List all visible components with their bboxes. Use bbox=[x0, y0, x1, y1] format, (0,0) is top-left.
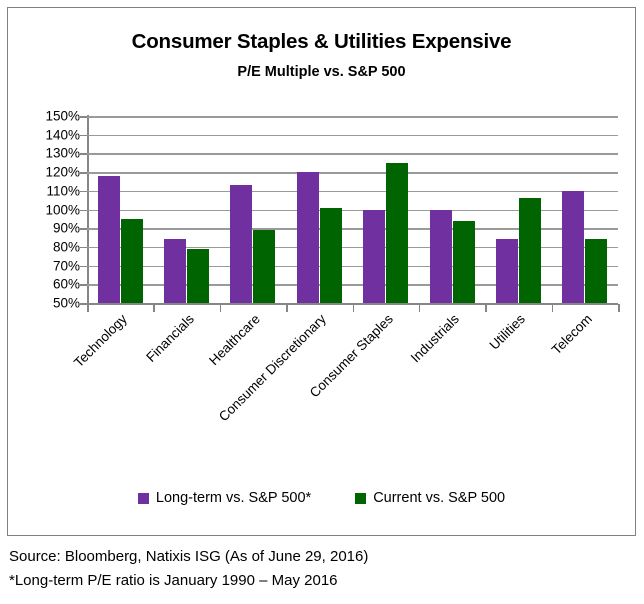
y-axis-tick-label: 70% bbox=[53, 259, 80, 273]
x-axis-tick bbox=[286, 304, 288, 312]
bar[interactable] bbox=[430, 210, 452, 304]
y-axis-tick-label: 90% bbox=[53, 221, 80, 235]
bar-group bbox=[485, 116, 551, 303]
bar-group bbox=[87, 116, 153, 303]
legend-label: Current vs. S&P 500 bbox=[373, 490, 505, 506]
chart-frame: Consumer Staples & Utilities Expensive P… bbox=[7, 7, 636, 536]
y-axis-tick bbox=[80, 266, 87, 268]
bar[interactable] bbox=[496, 239, 518, 303]
bar[interactable] bbox=[585, 239, 607, 303]
bar[interactable] bbox=[519, 198, 541, 303]
bar[interactable] bbox=[386, 163, 408, 303]
bar[interactable] bbox=[98, 176, 120, 303]
bar-group bbox=[153, 116, 219, 303]
bar[interactable] bbox=[253, 230, 275, 303]
bar[interactable] bbox=[453, 221, 475, 303]
footer-notes: Source: Bloomberg, Natixis ISG (As of Ju… bbox=[9, 545, 629, 594]
y-axis-tick bbox=[80, 247, 87, 249]
footer-note-line: *Long-term P/E ratio is January 1990 – M… bbox=[9, 569, 629, 593]
plot-area bbox=[87, 116, 618, 303]
y-axis-tick-label: 50% bbox=[53, 296, 80, 310]
bar-group bbox=[419, 116, 485, 303]
y-axis-tick bbox=[80, 303, 87, 305]
y-axis-tick-label: 130% bbox=[45, 147, 80, 161]
bar[interactable] bbox=[121, 219, 143, 303]
y-axis-tick bbox=[80, 153, 87, 155]
bar[interactable] bbox=[363, 210, 385, 304]
bar-group bbox=[286, 116, 352, 303]
x-axis-tick bbox=[618, 304, 620, 312]
bar[interactable] bbox=[297, 172, 319, 303]
bar[interactable] bbox=[187, 249, 209, 303]
plot-wrapper: 150%140%130%120%110%100%90%80%70%60%50% … bbox=[8, 8, 635, 535]
legend-label: Long-term vs. S&P 500* bbox=[156, 490, 311, 506]
bar-group bbox=[220, 116, 286, 303]
y-axis-tick-label: 80% bbox=[53, 240, 80, 254]
y-axis-tick bbox=[80, 116, 87, 118]
x-axis-tick bbox=[87, 304, 89, 312]
y-axis-tick-label: 110% bbox=[46, 184, 80, 198]
y-axis-tick bbox=[80, 191, 87, 193]
bar[interactable] bbox=[230, 185, 252, 303]
x-axis-tick bbox=[552, 304, 554, 312]
legend-item[interactable]: Long-term vs. S&P 500* bbox=[138, 490, 311, 506]
footer-source-line: Source: Bloomberg, Natixis ISG (As of Ju… bbox=[9, 545, 629, 569]
y-axis-tick-label: 140% bbox=[45, 128, 80, 142]
legend-swatch bbox=[138, 493, 149, 504]
y-axis-tick-label: 60% bbox=[53, 278, 80, 292]
legend-item[interactable]: Current vs. S&P 500 bbox=[355, 490, 505, 506]
bar-group bbox=[552, 116, 618, 303]
bar[interactable] bbox=[164, 239, 186, 303]
chart-page: Consumer Staples & Utilities Expensive P… bbox=[0, 0, 644, 604]
x-axis-tick bbox=[220, 304, 222, 312]
bar-group bbox=[353, 116, 419, 303]
x-axis-tick bbox=[353, 304, 355, 312]
y-axis-tick bbox=[80, 228, 87, 230]
bars-layer bbox=[87, 116, 618, 303]
x-axis-category-labels: TechnologyFinancialsHealthcareConsumer D… bbox=[87, 312, 618, 422]
y-axis-tick-label: 120% bbox=[45, 165, 80, 179]
y-axis-tick bbox=[80, 284, 87, 286]
y-axis-tick bbox=[80, 135, 87, 137]
y-axis-tick bbox=[80, 210, 87, 212]
legend-swatch bbox=[355, 493, 366, 504]
y-axis-tick bbox=[80, 172, 87, 174]
x-axis-ticks bbox=[87, 304, 618, 312]
x-axis-tick bbox=[485, 304, 487, 312]
x-axis-tick bbox=[419, 304, 421, 312]
y-axis-tick-label: 150% bbox=[45, 109, 80, 123]
bar[interactable] bbox=[320, 208, 342, 303]
y-axis-tick-label: 100% bbox=[45, 203, 80, 217]
chart-legend: Long-term vs. S&P 500*Current vs. S&P 50… bbox=[8, 490, 635, 506]
y-axis-tick-labels: 150%140%130%120%110%100%90%80%70%60%50% bbox=[22, 109, 80, 305]
bar[interactable] bbox=[562, 191, 584, 303]
x-axis-tick bbox=[153, 304, 155, 312]
